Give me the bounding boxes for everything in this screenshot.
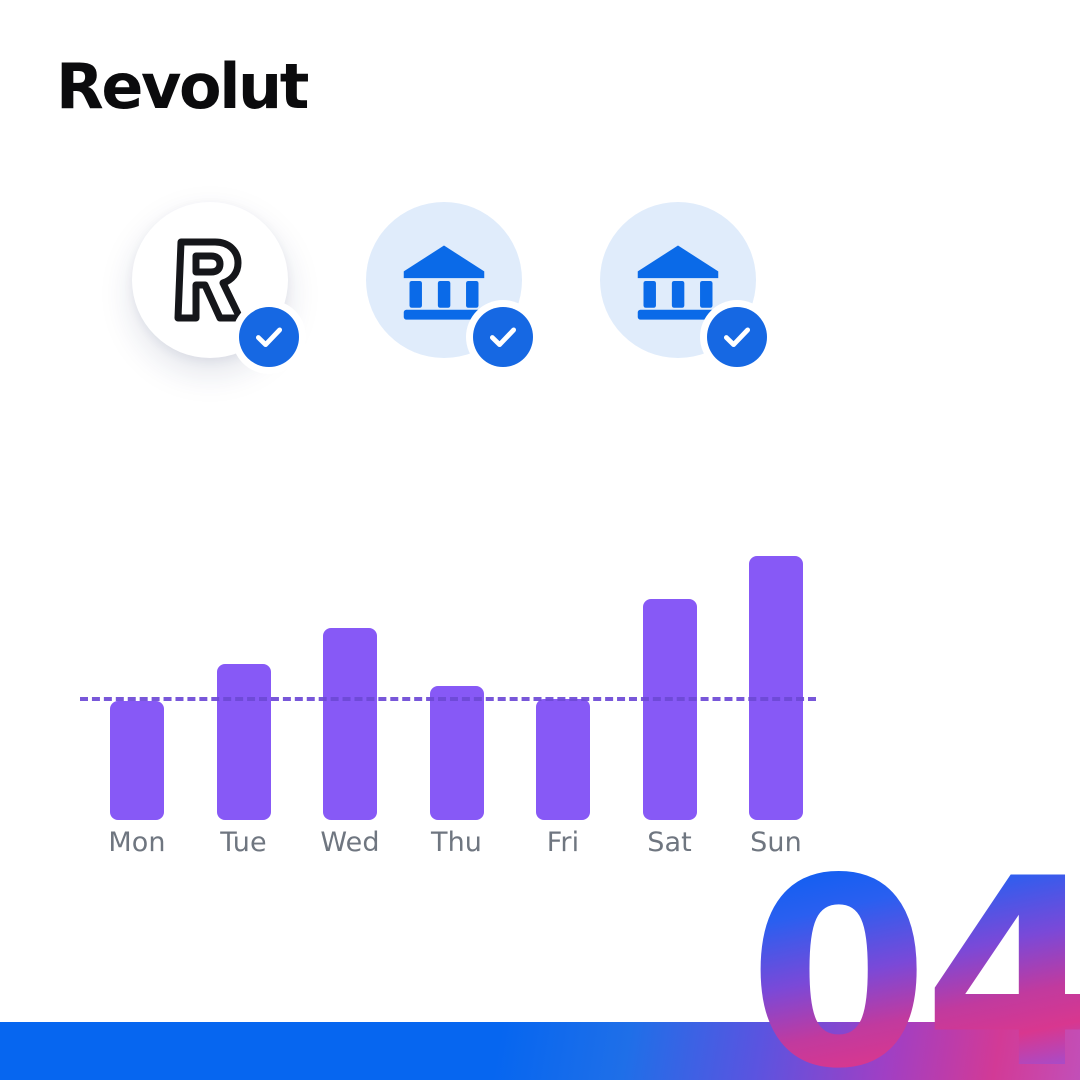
chart-bar[interactable] [643, 599, 697, 820]
x-axis-label: Thu [402, 826, 512, 860]
x-axis-label: Wed [295, 826, 405, 860]
average-reference-line [80, 697, 816, 701]
check-icon [720, 320, 754, 354]
slide-canvas: Revolut [0, 0, 1080, 1080]
weekly-spending-chart: MonTueWedThuFriSatSun [86, 530, 846, 870]
check-icon [486, 320, 520, 354]
linked-accounts-row [0, 0, 1080, 420]
verified-disc [239, 307, 299, 367]
x-axis-label: Mon [82, 826, 192, 860]
verified-badge [466, 300, 540, 374]
chart-bar[interactable] [749, 556, 803, 820]
chart-bar[interactable] [217, 664, 271, 820]
x-axis-label: Sat [615, 826, 725, 860]
check-icon [252, 320, 286, 354]
account-badge-bank-1[interactable] [366, 202, 522, 358]
x-axis-label: Fri [508, 826, 618, 860]
account-badge-revolut[interactable] [132, 202, 288, 358]
revolut-r-icon [171, 236, 249, 324]
verified-disc [707, 307, 767, 367]
slide-number: 04 [748, 870, 1080, 1080]
chart-plot-area [86, 530, 846, 820]
verified-disc [473, 307, 533, 367]
verified-badge [232, 300, 306, 374]
account-badge-bank-2[interactable] [600, 202, 756, 358]
chart-bar[interactable] [110, 701, 164, 820]
chart-bar[interactable] [430, 686, 484, 820]
chart-bar[interactable] [536, 699, 590, 820]
x-axis-label: Tue [189, 826, 299, 860]
verified-badge [700, 300, 774, 374]
chart-x-axis: MonTueWedThuFriSatSun [86, 826, 846, 866]
chart-bar[interactable] [323, 628, 377, 820]
